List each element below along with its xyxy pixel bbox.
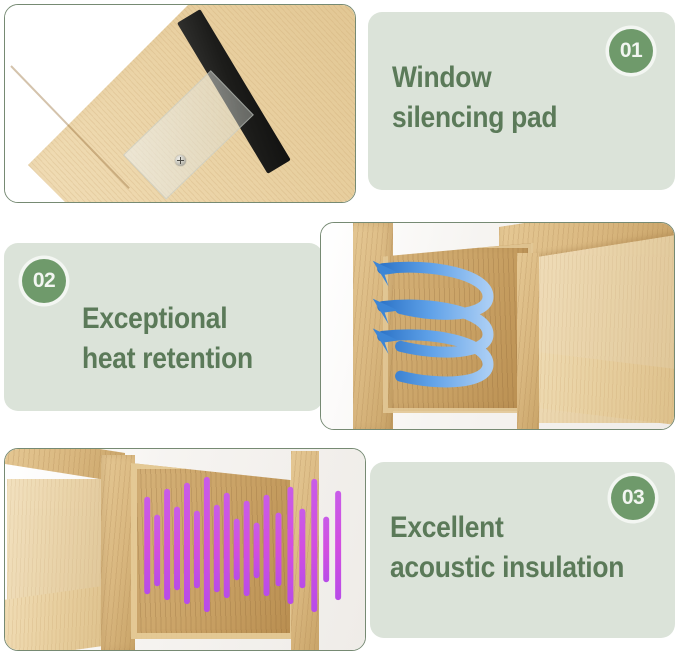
heat-retention-photo — [321, 223, 674, 429]
acoustic-insulation-photo — [5, 449, 365, 650]
feature-1-image-card — [4, 4, 356, 203]
feature-1-title: Window silencing pad — [392, 58, 557, 138]
feature-1-number-badge: 01 — [609, 29, 653, 73]
feature-2-number-badge: 02 — [22, 259, 66, 303]
feature-2-text-card: 02 Exceptional heat retention — [4, 243, 323, 411]
feature-3-text-card: Excellent acoustic insulation 03 — [370, 462, 675, 638]
window-silencing-pad-photo — [5, 5, 355, 202]
feature-3-image-card — [4, 448, 366, 651]
heat-flow-arrows-icon — [321, 223, 674, 430]
feature-1-text-card: Window silencing pad 01 — [368, 12, 675, 190]
sound-waveform-icon — [5, 449, 365, 651]
frame-screw — [175, 155, 186, 166]
feature-3-title: Excellent acoustic insulation — [390, 508, 624, 588]
feature-2-image-card — [320, 222, 675, 430]
feature-3-number-badge: 03 — [611, 476, 655, 520]
feature-2-title: Exceptional heat retention — [82, 299, 253, 379]
